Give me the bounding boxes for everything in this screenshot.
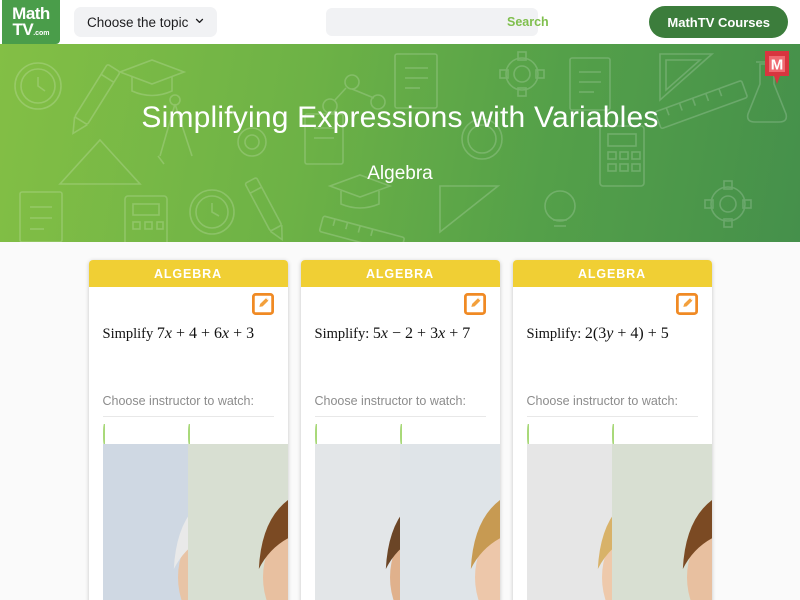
card-body: Simplify 7x + 4 + 6x + 3 Choose instruct… <box>89 287 288 600</box>
topic-dropdown[interactable]: Choose the topic <box>74 7 217 37</box>
mathway-badge[interactable]: M <box>763 50 791 86</box>
problem-expression: 7x + 4 + 6x + 3 <box>157 325 254 342</box>
card-body: Simplify: 5x − 2 + 3x + 7 Choose instruc… <box>301 287 500 600</box>
instructor-option[interactable]: CC Matt <box>315 426 401 600</box>
problem-prompt: Simplify <box>103 326 154 342</box>
problem-card: ALGEBRA Simplify: 5x − 2 + 3x + 7 Choose… <box>301 260 500 600</box>
instructor-list: CC Matt CC Stephanie CC <box>315 426 486 600</box>
avatar-image <box>188 424 288 600</box>
avatar <box>612 426 712 600</box>
instructor-option[interactable]: Ana <box>188 426 274 600</box>
page-title: Simplifying Expressions with Variables <box>141 101 658 135</box>
instructor-option[interactable]: Ana <box>612 426 698 600</box>
problem-statement: Simplify: 2(3y + 4) + 5 <box>527 322 698 380</box>
edit-icon[interactable] <box>464 293 486 315</box>
svg-text:M: M <box>771 57 784 74</box>
logo-text-tv: TV <box>12 22 33 38</box>
instructor-option[interactable]: CC Stephanie <box>400 426 486 600</box>
card-category-header: ALGEBRA <box>513 260 712 287</box>
instructor-list: Arielle Ana Graham <box>527 426 698 600</box>
problem-card: ALGEBRA Simplify: 2(3y + 4) + 5 Choose i… <box>513 260 712 600</box>
search-submit-label[interactable]: Search <box>507 15 549 29</box>
avatar-image <box>612 424 712 600</box>
problem-prompt: Simplify: <box>315 326 370 342</box>
card-category-header: ALGEBRA <box>89 260 288 287</box>
problem-card-grid: ALGEBRA Simplify 7x + 4 + 6x + 3 Choose … <box>0 242 800 600</box>
problem-expression: 5x − 2 + 3x + 7 <box>373 325 470 342</box>
hero-banner: M Simplifying Expressions with Variables… <box>0 44 800 242</box>
instructor-list: CC Mr. McKeague Ana <box>103 426 274 600</box>
logo-text-com: .com <box>33 31 49 37</box>
choose-instructor-label: Choose instructor to watch: <box>103 394 274 417</box>
problem-card: ALGEBRA Simplify 7x + 4 + 6x + 3 Choose … <box>89 260 288 600</box>
instructor-option[interactable]: CC Mr. McKeague <box>103 426 189 600</box>
search-input[interactable] <box>346 15 507 29</box>
top-navigation-bar: Math TV .com Choose the topic Search Mat… <box>0 0 800 44</box>
choose-instructor-label: Choose instructor to watch: <box>527 394 698 417</box>
avatar <box>188 426 288 600</box>
choose-instructor-label: Choose instructor to watch: <box>315 394 486 417</box>
card-body: Simplify: 2(3y + 4) + 5 Choose instructo… <box>513 287 712 600</box>
search-bar[interactable]: Search <box>326 8 538 36</box>
problem-prompt: Simplify: <box>527 326 582 342</box>
mathtv-logo[interactable]: Math TV .com <box>2 0 60 44</box>
problem-statement: Simplify: 5x − 2 + 3x + 7 <box>315 322 486 380</box>
problem-expression: 2(3y + 4) + 5 <box>585 325 669 342</box>
card-category-header: ALGEBRA <box>301 260 500 287</box>
avatar: CC <box>400 426 500 600</box>
edit-icon[interactable] <box>252 293 274 315</box>
hero-subject: Algebra <box>367 163 433 185</box>
chevron-down-icon <box>195 16 204 25</box>
edit-icon[interactable] <box>676 293 698 315</box>
instructor-option[interactable]: Arielle <box>527 426 613 600</box>
avatar-image <box>400 424 500 600</box>
problem-statement: Simplify 7x + 4 + 6x + 3 <box>103 322 274 380</box>
mathtv-courses-button[interactable]: MathTV Courses <box>649 6 788 38</box>
hero-background-pattern <box>0 44 800 242</box>
topic-dropdown-label: Choose the topic <box>87 15 188 30</box>
